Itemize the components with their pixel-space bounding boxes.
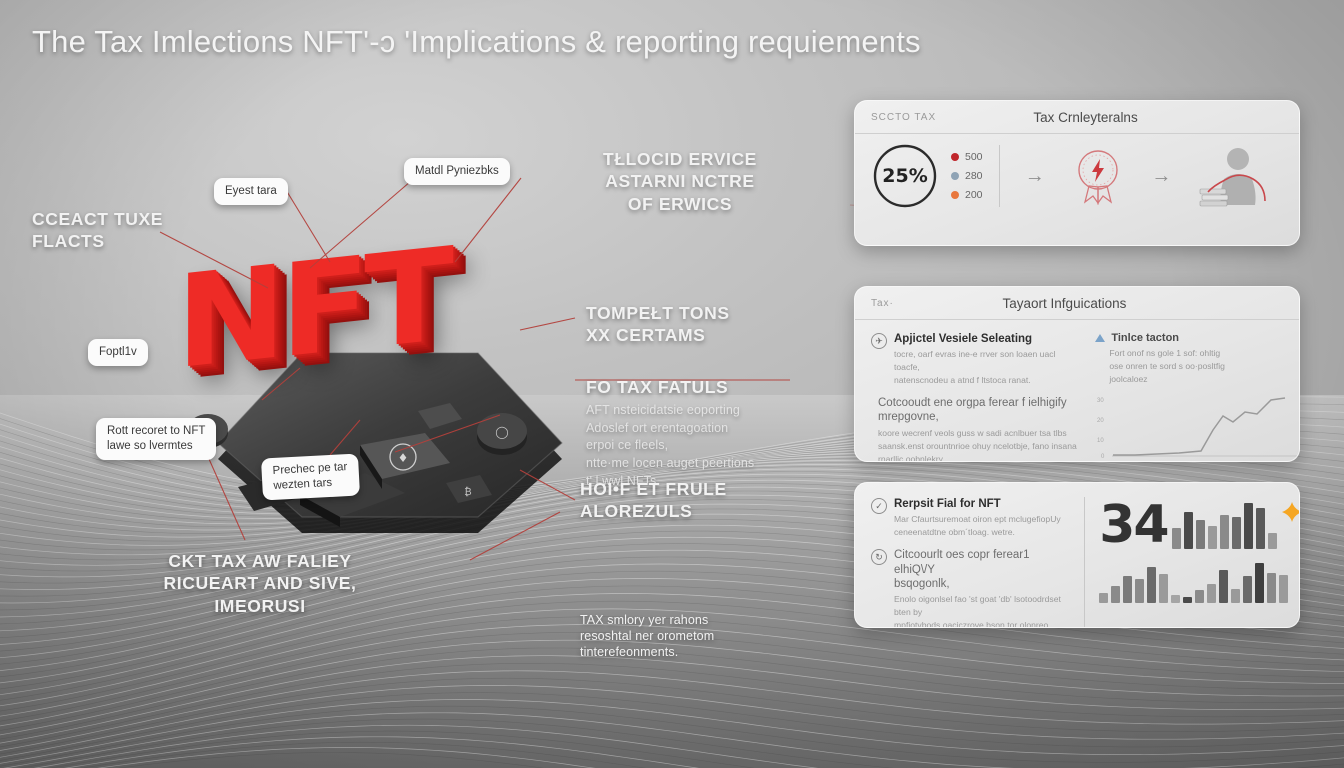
reporting-mini-chart: Tinlce tacton Fort onof ns gole 1 sof: o… [1089,332,1300,462]
svg-text:-A: -A [1137,461,1143,462]
fo-tax-heading: FO TAX FATULS [586,377,728,397]
floating-text-tlocid-ervice: TŁLOCID ERVICE ASTARNI NCTRE OF ERWICS [570,148,790,215]
bullet-heading: Rerpsit Fial for NFT [894,497,1061,511]
card-reporting-obligations[interactable]: Tax· Tayaort Infguications ✈ Apjictel Ve… [854,286,1300,462]
legend-label: 200 [965,189,983,201]
bar [1267,573,1276,603]
bullet-item[interactable]: ✓ Rerpsit Fial for NFT Mar Cfaurtsuremoa… [871,497,1072,539]
nft-3d-text: NFT [176,221,448,399]
legend-swatch-red [951,153,959,161]
card-filing-body: ✓ Rerpsit Fial for NFT Mar Cfaurtsuremoa… [855,483,1299,628]
bullet-heading: Cotcooudt ene orgpa ferear f ielhigify m… [878,396,1077,425]
svg-text:10: 10 [1097,438,1104,444]
mini-chart-header: Tinlce tacton [1095,332,1300,344]
arrow-right-icon: → [1151,165,1171,188]
legend-item: 200 [951,189,983,201]
svg-text:20: 20 [1097,418,1104,424]
triangle-up-icon [1095,334,1105,342]
spark-star-icon [1281,501,1300,523]
airplane-icon: ✈ [871,333,887,349]
donut-section: 25% 500 280 200 [871,142,983,210]
line-chart-svg[interactable]: 3020 100 4-A2 7b12 1416 [1095,390,1300,462]
svg-text:0: 0 [1101,454,1105,460]
bar [1220,515,1229,549]
legend-label: 280 [965,170,983,182]
bar [1279,575,1288,603]
bullet-body: tocre, oarf evras ine-e rrver son loaen … [894,348,1079,387]
bar [1219,570,1228,603]
mini-chart-title: Tinlce tacton [1111,332,1179,344]
nft-3d-hero: ◆ ◯ ♦ ₿ NFT [150,225,580,535]
bar-chart-top[interactable] [1172,497,1277,549]
callout-matdl[interactable]: Matdl Pyniezbks [404,158,510,185]
card-filing-for-nft[interactable]: ✓ Rerpsit Fial for NFT Mar Cfaurtsuremoa… [854,482,1300,628]
bar [1183,597,1192,603]
callout-prechec[interactable]: Prechec pe tar wezten tars [261,453,360,500]
page-title: The Tax Imlections NFT'-ɔ 'Implications … [32,24,1012,60]
bar [1231,589,1240,603]
floating-text-hoff-et-frule: HOI•F ET FRULE ALOREZULS [580,478,727,523]
svg-text:2: 2 [1163,461,1166,462]
svg-text:₿: ₿ [464,486,471,498]
bullet-heading: Citcoourlt oes copr ferear1 elhiQ\/Y bsq… [894,548,1072,591]
bar [1243,576,1252,603]
bar-chart-bottom[interactable] [1099,557,1300,603]
arrow-right-icon: → [1025,165,1045,188]
legend-item: 500 [951,151,983,163]
bullet-body: Enolo oigonlsel fao 'st goat 'db' lsotoo… [894,593,1072,628]
card-overview-body: 25% 500 280 200 [855,134,1299,222]
bar [1196,520,1205,549]
bullet-body: Mar Cfaurtsuremoat oiron ept mclugefiopU… [894,513,1061,539]
svg-text:4: 4 [1112,461,1115,462]
bar [1171,595,1180,603]
bar [1111,586,1120,603]
floating-text-ckt-tax-aw: CKT TAX AW FALIEY RICUEART AND SIVE, IME… [110,550,410,617]
svg-text:14: 14 [1263,461,1269,462]
mini-chart-body: Fort onof ns gole 1 sof: ohltig ose onre… [1109,347,1300,386]
stat-row-top: 34 [1099,497,1300,549]
person-with-documents-icon [1198,145,1270,207]
card-reporting-title: Tayaort Infguications [894,296,1235,311]
bullet-heading: Apjictel Vesiele Seleating [894,332,1079,346]
svg-text:7: 7 [1189,461,1192,462]
bar [1135,579,1144,603]
card-overview-eyebrow: SCCTO TAX [871,112,936,123]
bar [1244,503,1253,549]
refresh-icon: ↻ [871,549,887,565]
card-reporting-body: ✈ Apjictel Vesiele Seleating tocre, oarf… [855,320,1299,462]
bar [1232,517,1241,549]
filing-stats: 34 [1085,497,1300,628]
svg-text:b: b [1215,461,1218,462]
card-reporting-eyebrow: Tax· [871,298,894,309]
legend-swatch-orange [951,191,959,199]
filing-bullets: ✓ Rerpsit Fial for NFT Mar Cfaurtsuremoa… [871,497,1085,628]
bar [1147,567,1156,603]
donut-center-value: 25% [871,142,939,210]
process-flow: → → [999,145,1283,207]
bullet-body: koore wecrenf veols guss w sadi acnlbuer… [878,427,1077,462]
svg-text:30: 30 [1097,398,1104,404]
legend-label: 500 [965,151,983,163]
donut-chart: 25% [871,142,939,210]
svg-text:◯: ◯ [495,425,508,439]
callout-eyest-tara[interactable]: Eyest tara [214,178,288,205]
bar [1123,576,1132,603]
big-number: 34 [1099,502,1167,549]
bar [1159,574,1168,603]
bar [1256,508,1265,549]
bar [1195,590,1204,603]
card-overview-header: SCCTO TAX Tax Crnleyteralns [855,101,1299,134]
floating-text-tax-smlory: TAX smlory yer rahons resoshtal ner orom… [580,612,830,660]
svg-text:12: 12 [1239,461,1245,462]
bar [1255,563,1264,603]
callout-fopt-tiv[interactable]: Foptl1v [88,339,148,366]
bullet-item[interactable]: Cotcooudt ene orgpa ferear f ielhigify m… [871,396,1079,462]
reporting-bullets: ✈ Apjictel Vesiele Seleating tocre, oarf… [871,332,1089,462]
legend-item: 280 [951,170,983,182]
card-tax-overview[interactable]: SCCTO TAX Tax Crnleyteralns 25% 500 [854,100,1300,246]
bar [1268,533,1277,549]
bar [1207,584,1216,603]
card-overview-title: Tax Crnleyteralns [936,110,1235,125]
check-badge-icon: ✓ [871,498,887,514]
crypto-shards-icon: ◆ ◯ ♦ ₿ [150,375,580,545]
bar [1172,528,1181,549]
bar [1099,593,1108,603]
award-badge-icon [1071,146,1125,206]
legend-swatch-blue [951,172,959,180]
bullet-item[interactable]: ↻ Citcoourlt oes copr ferear1 elhiQ\/Y b… [871,548,1072,628]
bar [1184,512,1193,549]
floating-text-cceact-tuxe: CCEACT TUXE FLACTS [32,208,163,253]
bullet-item[interactable]: ✈ Apjictel Vesiele Seleating tocre, oarf… [871,332,1079,387]
floating-text-tompet-tons: TOMPEŁT TONS XX CERTAMS [586,302,730,347]
callout-rott-record[interactable]: Rott recoret to NFT lawe so lvermtes [96,418,216,460]
card-reporting-header: Tax· Tayaort Infguications [855,287,1299,320]
infographic-canvas: The Tax Imlections NFT'-ɔ 'Implications … [0,0,1344,768]
svg-text:♦: ♦ [398,451,409,465]
bar [1208,526,1217,549]
donut-legend: 500 280 200 [951,151,983,201]
